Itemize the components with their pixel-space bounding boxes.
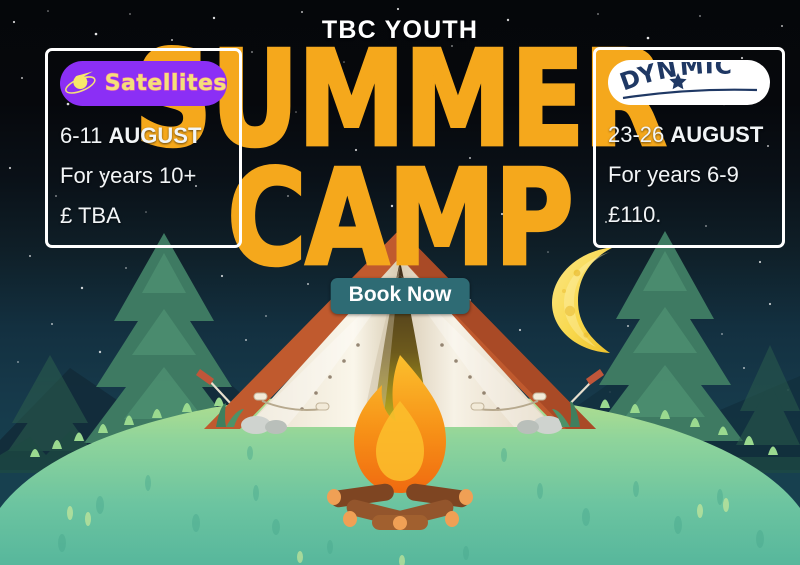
satellites-logo-badge: Satellites xyxy=(60,61,227,106)
satellites-dates-month: AUGUST xyxy=(109,123,202,148)
dynamic-dates-range: 23-26 xyxy=(608,122,664,147)
planet-comet-icon xyxy=(60,69,99,99)
dynamic-dates-month: AUGUST xyxy=(670,122,763,147)
book-now-button[interactable]: Book Now xyxy=(331,278,470,314)
dynamic-price: £110. xyxy=(608,203,770,226)
eyebrow-text: TBC YOUTH xyxy=(0,18,800,43)
satellites-logo-text: Satellites xyxy=(105,71,227,96)
dynamic-years: For years 6-9 xyxy=(608,163,770,186)
dynamic-info-card: DYN MIC 23-26 AUGUST For years 6-9 £110. xyxy=(593,47,785,248)
satellites-dates: 6-11 AUGUST xyxy=(60,124,227,147)
dynamic-underline-swoosh xyxy=(623,89,757,97)
campsite-scene xyxy=(0,205,800,565)
satellites-price: £ TBA xyxy=(60,204,227,227)
dynamic-logo-badge: DYN MIC xyxy=(608,60,770,105)
dynamic-logo-svg: DYN MIC xyxy=(609,62,769,104)
dynamic-dates: 23-26 AUGUST xyxy=(608,123,770,146)
satellites-dates-range: 6-11 xyxy=(60,123,102,148)
svg-text:MIC: MIC xyxy=(679,62,734,81)
summer-camp-poster: TBC YOUTH SUMMER CAMP Book Now Satellite… xyxy=(0,0,800,565)
pine-tree-far-right xyxy=(736,345,800,445)
satellites-years: For years 10+ xyxy=(60,164,227,187)
satellites-info-card: Satellites 6-11 AUGUST For years 10+ £ T… xyxy=(45,48,242,248)
